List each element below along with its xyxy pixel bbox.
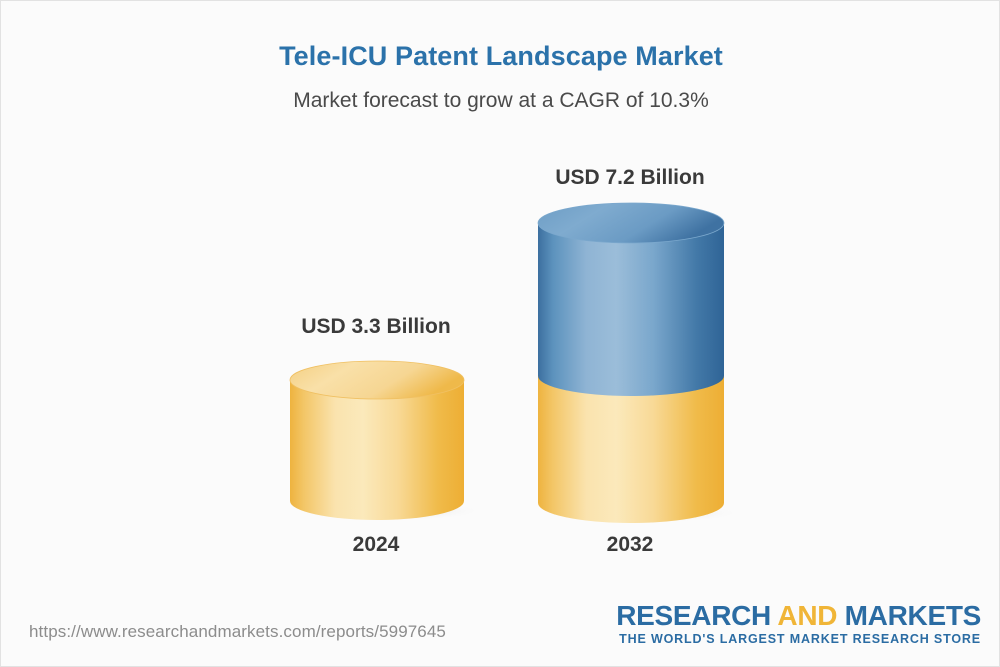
category-label-2032: 2032	[510, 533, 750, 557]
report-url-link[interactable]: https://www.researchandmarkets.com/repor…	[29, 622, 446, 642]
value-label-2024: USD 3.3 Billion	[256, 315, 496, 339]
cylinder-segment-growth-2032	[538, 223, 724, 396]
plot-area: USD 3.3 Billion	[1, 1, 1000, 601]
logo-wordmark: RESEARCH AND MARKETS	[616, 601, 981, 630]
logo-and-text: AND	[777, 600, 837, 631]
logo-tagline: THE WORLD'S LARGEST MARKET RESEARCH STOR…	[616, 632, 981, 646]
cylinder-body-2024	[290, 380, 464, 520]
category-label-2024: 2024	[256, 533, 496, 557]
cylinder-bar-2024[interactable]	[289, 361, 465, 519]
logo-research-text: RESEARCH	[616, 600, 771, 631]
chart-canvas: Tele-ICU Patent Landscape Market Market …	[0, 0, 1000, 667]
logo-markets-text: MARKETS	[845, 600, 981, 631]
cylinder-segment-base-2032	[538, 376, 724, 523]
research-and-markets-logo[interactable]: RESEARCH AND MARKETS THE WORLD'S LARGEST…	[616, 601, 981, 646]
cylinder-bar-2032[interactable]	[537, 203, 725, 521]
value-label-2032: USD 7.2 Billion	[510, 166, 750, 190]
